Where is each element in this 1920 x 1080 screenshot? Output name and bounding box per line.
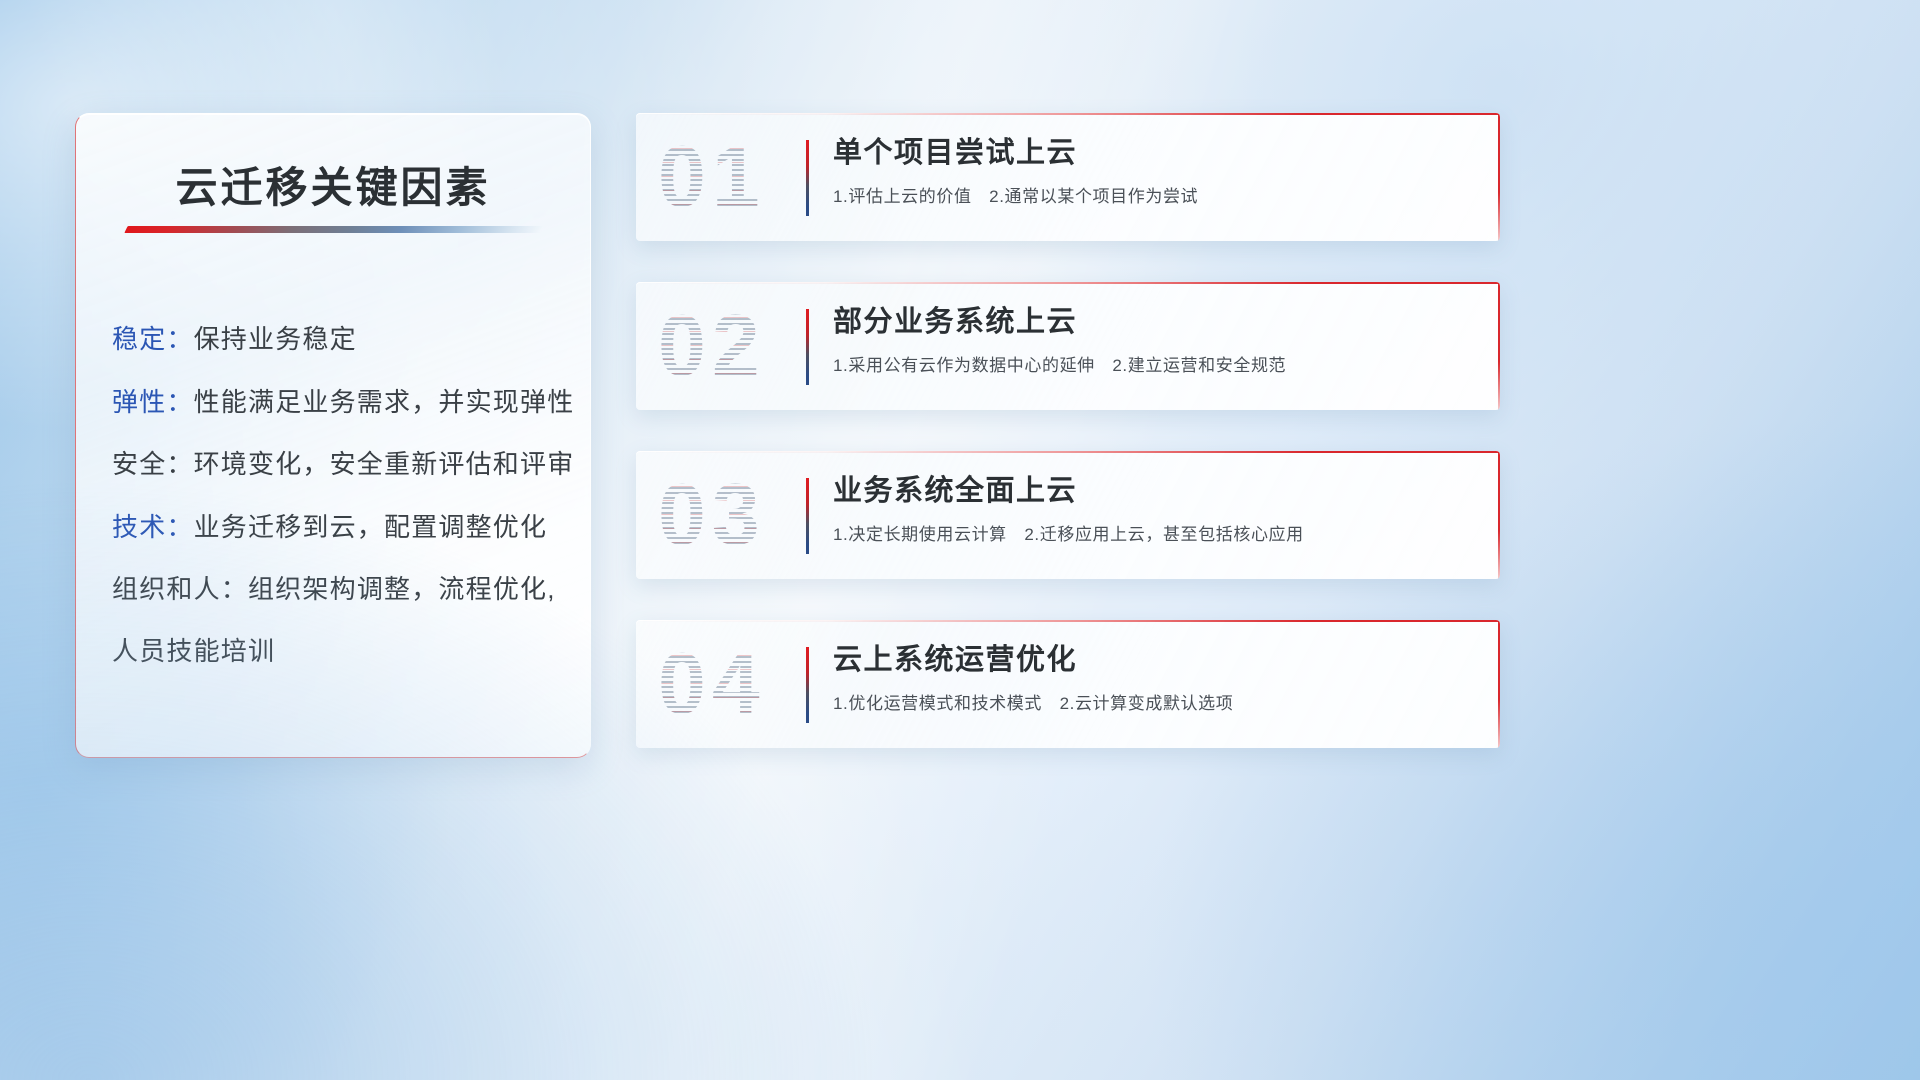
title-underline-rule (124, 226, 543, 233)
factor-text: 组织架构调整，流程优化, (248, 574, 556, 604)
card-right-accent-line (1498, 620, 1500, 748)
page-title: 云迁移关键因素 (76, 154, 590, 215)
stage-description: 1.决定长期使用云计算 2.迁移应用上云，甚至包括核心应用 (833, 520, 1476, 545)
factor-item: 人员技能培训 (112, 631, 275, 668)
migration-stage-cards: 0101单个项目尝试上云1.评估上云的价值 2.通常以某个项目作为尝试0202部… (636, 113, 1500, 748)
card-top-accent-line (636, 282, 1500, 284)
card-right-accent-line (1498, 282, 1500, 410)
stage-title: 业务系统全面上云 (833, 473, 1476, 509)
card-text-block: 云上系统运营优化1.优化运营模式和技术模式 2.云计算变成默认选项 (833, 642, 1476, 714)
card-top-accent-line (636, 451, 1500, 453)
stage-number-watermark: 02 (658, 303, 766, 389)
factor-label: 安全： (112, 449, 194, 479)
stage-number-watermark-tint: 01 (658, 134, 766, 220)
stage-number-watermark: 01 (658, 134, 766, 220)
factor-label: 稳定： (112, 324, 194, 354)
stage-card[interactable]: 0202部分业务系统上云1.采用公有云作为数据中心的延伸 2.建立运营和安全规范 (636, 282, 1500, 410)
stage-title: 云上系统运营优化 (833, 642, 1476, 678)
card-right-accent-line (1498, 451, 1500, 579)
stage-number-watermark-tint: 02 (658, 303, 766, 389)
stage-number-watermark-tint: 03 (658, 472, 766, 558)
key-factors-panel: 云迁移关键因素 稳定：保持业务稳定弹性：性能满足业务需求，并实现弹性安全：环境变… (75, 113, 591, 758)
stage-card[interactable]: 0303业务系统全面上云1.决定长期使用云计算 2.迁移应用上云，甚至包括核心应… (636, 451, 1500, 579)
card-text-block: 部分业务系统上云1.采用公有云作为数据中心的延伸 2.建立运营和安全规范 (833, 304, 1476, 376)
factor-text: 环境变化，安全重新评估和评审 (194, 449, 575, 479)
card-right-accent-line (1498, 113, 1500, 241)
card-accent-bar (806, 140, 809, 216)
factor-text: 性能满足业务需求，并实现弹性 (194, 387, 575, 417)
factor-item: 稳定：保持业务稳定 (112, 319, 357, 356)
factor-item: 技术：业务迁移到云，配置调整优化 (112, 507, 547, 544)
factor-item: 安全：环境变化，安全重新评估和评审 (112, 444, 574, 481)
stage-card[interactable]: 0404云上系统运营优化1.优化运营模式和技术模式 2.云计算变成默认选项 (636, 620, 1500, 748)
factor-label: 弹性： (112, 387, 194, 417)
factor-text: 保持业务稳定 (194, 324, 357, 354)
card-accent-bar (806, 309, 809, 385)
stage-description: 1.评估上云的价值 2.通常以某个项目作为尝试 (833, 182, 1476, 207)
card-top-accent-line (636, 113, 1500, 115)
card-accent-bar (806, 647, 809, 723)
stage-number-watermark: 04 (658, 641, 766, 727)
slide-canvas: 云迁移关键因素 稳定：保持业务稳定弹性：性能满足业务需求，并实现弹性安全：环境变… (0, 0, 1920, 1080)
factor-item: 组织和人：组织架构调整，流程优化, (112, 569, 556, 606)
factor-item: 弹性：性能满足业务需求，并实现弹性 (112, 382, 574, 419)
card-top-accent-line (636, 620, 1500, 622)
stage-number-watermark: 03 (658, 472, 766, 558)
factor-text: 业务迁移到云，配置调整优化 (194, 512, 548, 542)
stage-description: 1.优化运营模式和技术模式 2.云计算变成默认选项 (833, 689, 1476, 714)
stage-number-watermark-tint: 04 (658, 641, 766, 727)
stage-title: 部分业务系统上云 (833, 304, 1476, 340)
factor-text: 人员技能培训 (112, 636, 275, 666)
card-text-block: 单个项目尝试上云1.评估上云的价值 2.通常以某个项目作为尝试 (833, 135, 1476, 207)
stage-description: 1.采用公有云作为数据中心的延伸 2.建立运营和安全规范 (833, 351, 1476, 376)
card-text-block: 业务系统全面上云1.决定长期使用云计算 2.迁移应用上云，甚至包括核心应用 (833, 473, 1476, 545)
stage-title: 单个项目尝试上云 (833, 135, 1476, 171)
factor-label: 组织和人： (112, 574, 248, 604)
stage-card[interactable]: 0101单个项目尝试上云1.评估上云的价值 2.通常以某个项目作为尝试 (636, 113, 1500, 241)
factor-label: 技术： (112, 512, 194, 542)
card-accent-bar (806, 478, 809, 554)
